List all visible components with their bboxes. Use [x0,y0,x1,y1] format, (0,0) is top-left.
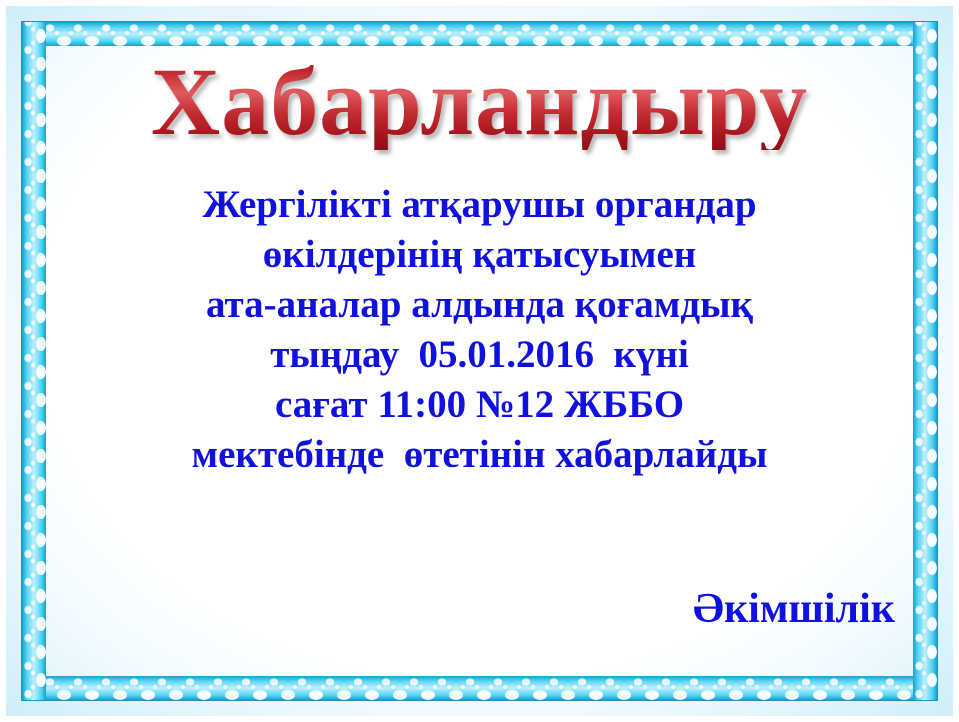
page-title: Хабарландыру [151,54,808,150]
body-line: ата-аналар алдында қоғамдық [56,280,903,330]
body-line: тыңдау 05.01.2016 күні [56,330,903,380]
frame-ornament-bottom-icon [22,676,937,700]
body-line: сағат 11:00 №12 ЖББО [56,380,903,430]
frame-ornament-right-icon [913,22,937,700]
body-line: мектебінде өтетінін хабарлайды [56,430,903,480]
body-line: өкілдерінің қатысуымен [56,230,903,280]
announcement-body: Жергілікті атқарушы органдар өкілдерінің… [56,180,903,479]
announcement-poster: Хабарландыру Хабарландыру Жергілікті атқ… [0,0,959,722]
poster-title-block: Хабарландыру Хабарландыру [46,54,913,150]
signature-text: Әкімшілік [693,588,895,630]
frame-ornament-top-icon [22,22,937,46]
frame-ornament-left-icon [22,22,46,700]
body-line: Жергілікті атқарушы органдар [56,180,903,230]
poster-content-area: Хабарландыру Хабарландыру Жергілікті атқ… [46,46,913,676]
